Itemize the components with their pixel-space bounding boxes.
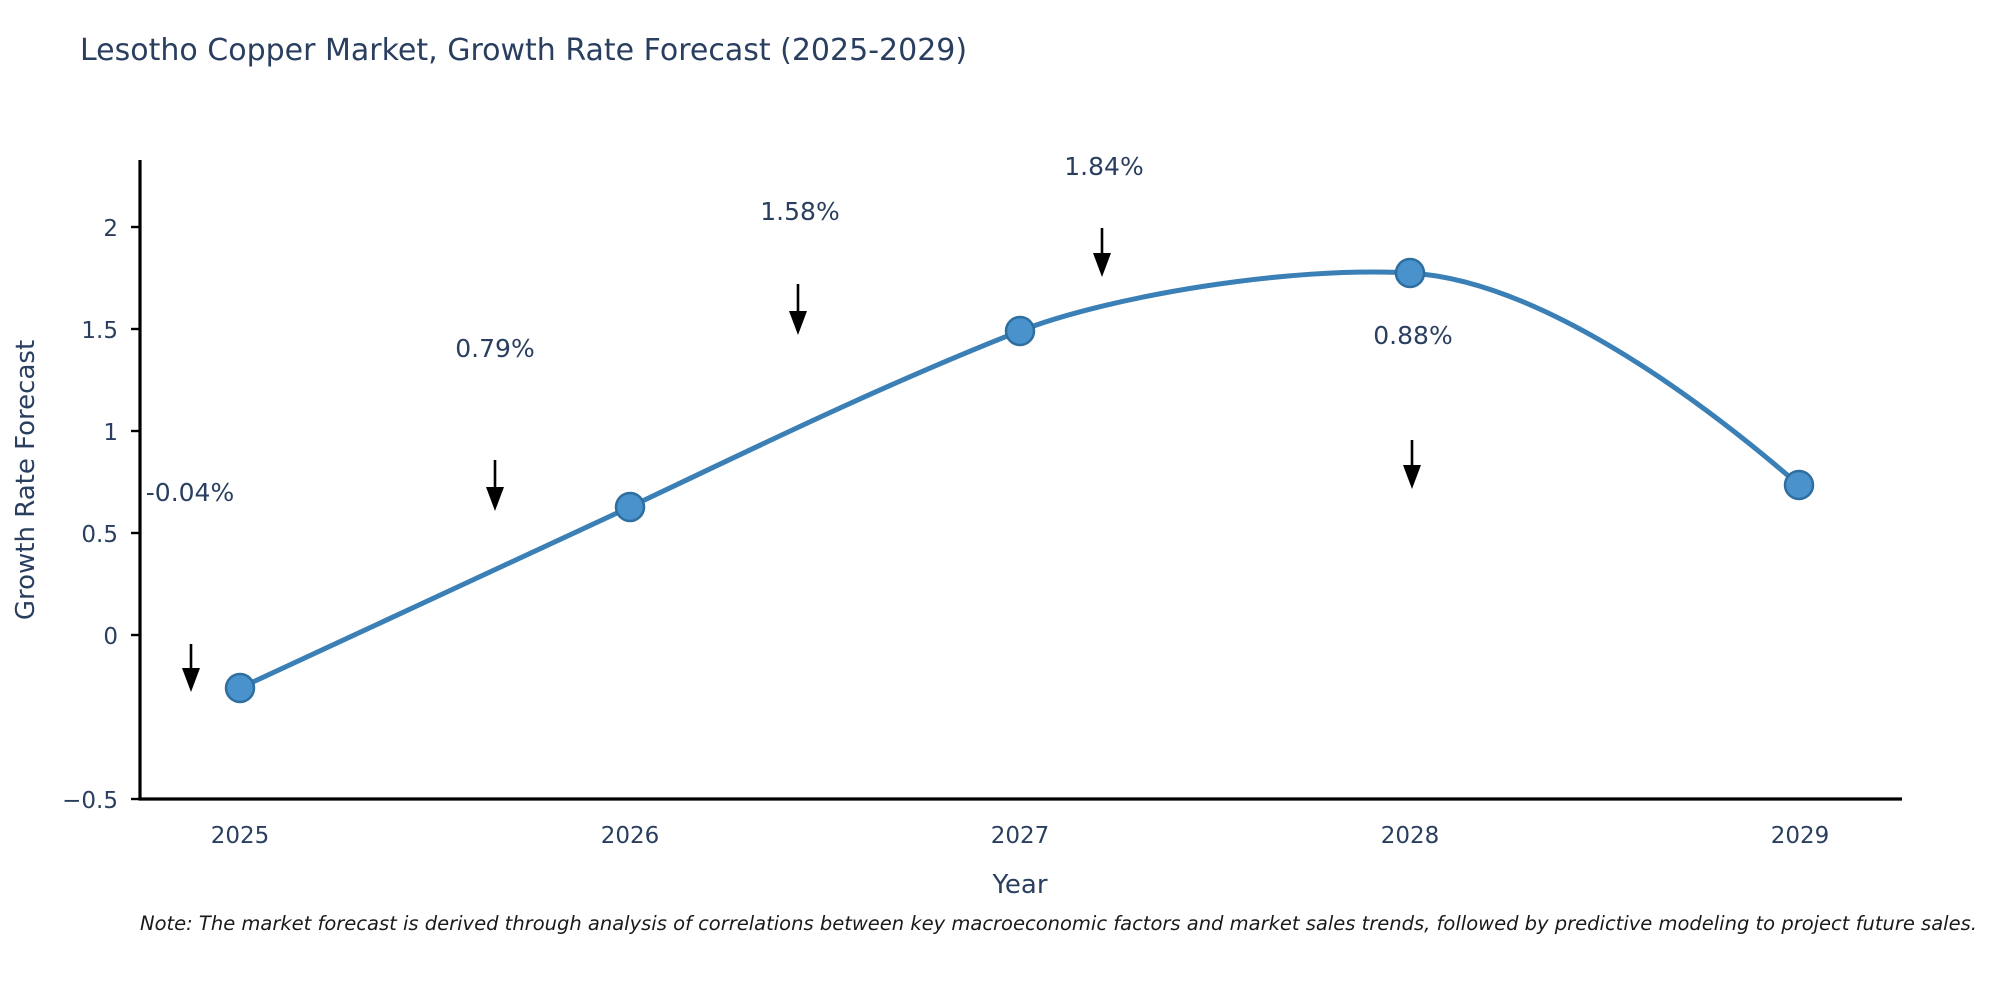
point-label-2029: 0.88% — [1373, 321, 1452, 350]
point-label-2026: 0.79% — [455, 334, 534, 363]
x-tick-label-2025: 2025 — [211, 823, 270, 849]
annotation-arrow-icon — [1403, 440, 1421, 489]
x-tick-label-2028: 2028 — [1381, 823, 1440, 849]
annotation-arrow-icon — [486, 460, 504, 511]
x-tick-label-2027: 2027 — [991, 823, 1050, 849]
data-point-2028[interactable] — [1396, 259, 1424, 287]
annotation-arrows — [182, 228, 1421, 692]
y-axis-title: Growth Rate Forecast — [11, 340, 41, 620]
x-axis-title: Year — [991, 870, 1047, 900]
point-label-2025: -0.04% — [146, 478, 234, 507]
annotation-arrow-icon — [182, 644, 200, 692]
data-point-2026[interactable] — [616, 493, 644, 521]
point-label-2027: 1.58% — [760, 197, 839, 226]
line-chart-plot: 2 1.5 1 0.5 0 −0.5 Growth Rate Forecast … — [0, 0, 2000, 900]
x-tick-label-2029: 2029 — [1771, 823, 1830, 849]
y-tick-label-neg-0-5: −0.5 — [62, 788, 118, 814]
y-tick-label-1: 1 — [103, 420, 118, 446]
data-point-2025[interactable] — [226, 674, 254, 702]
point-label-2028: 1.84% — [1064, 152, 1143, 181]
annotation-arrow-icon — [1093, 228, 1111, 277]
y-tick-label-0-5: 0.5 — [81, 522, 118, 548]
data-point-2029[interactable] — [1785, 471, 1813, 499]
footnote-text: Note: The market forecast is derived thr… — [140, 912, 2000, 935]
y-tick-label-1-5: 1.5 — [81, 318, 118, 344]
annotation-arrow-icon — [789, 284, 807, 335]
y-tick-label-2: 2 — [103, 216, 118, 242]
data-point-2027[interactable] — [1006, 317, 1034, 345]
x-tick-label-2026: 2026 — [601, 823, 660, 849]
y-tick-label-0: 0 — [103, 624, 118, 650]
chart-page: Lesotho Copper Market, Growth Rate Forec… — [0, 0, 2000, 1000]
